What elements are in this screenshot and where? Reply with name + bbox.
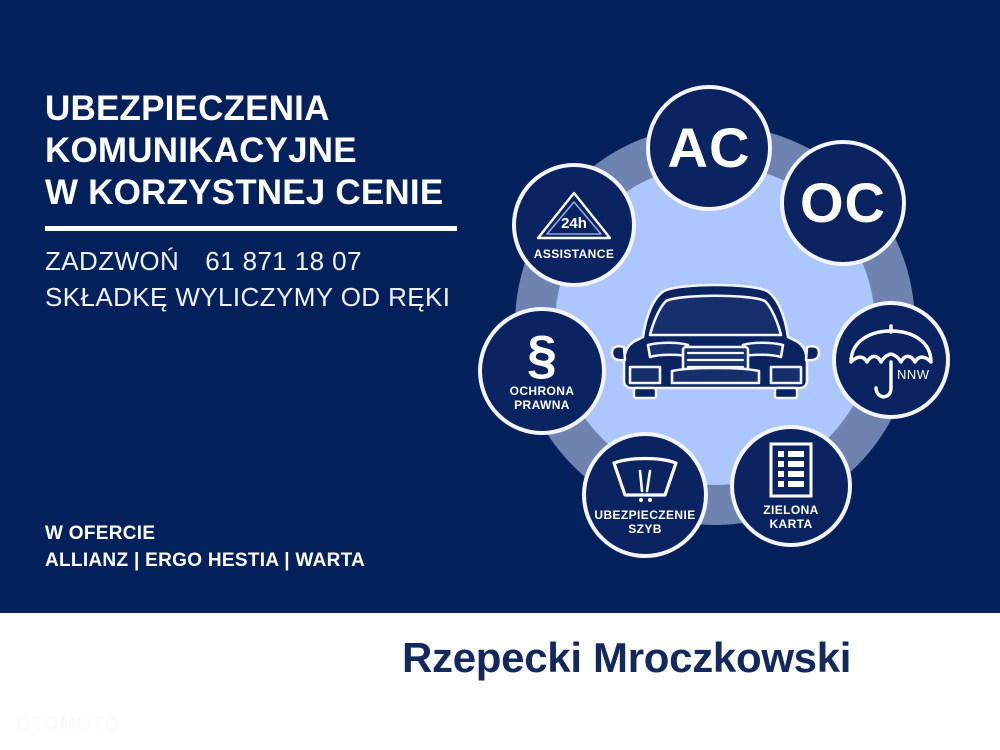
phone-number[interactable]: 61 871 18 07 — [205, 243, 362, 279]
offer-heading: W OFERCIE — [45, 520, 365, 547]
car-front-icon — [608, 275, 823, 405]
brand-name: Rzepecki Mroczkowski — [402, 634, 851, 682]
assistance-hours-text: 24h — [561, 215, 587, 232]
umbrella-icon — [843, 312, 939, 408]
call-to-action-line: ZADZWOŃ61 871 18 07 — [45, 243, 475, 279]
badge-zielona-karta[interactable]: ZIELONA KARTA — [730, 425, 852, 547]
badge-szyby-label: UBEZPIECZENIE SZYB — [594, 508, 695, 536]
badge-ochrona-prawna[interactable]: § OCHRONA PRAWNA — [478, 307, 606, 435]
insurance-coverage-diagram: AC OC NNW — [480, 85, 950, 565]
headline-divider — [45, 226, 457, 231]
advertisement-banner: UBEZPIECZENIA KOMUNIKACYJNE W KORZYSTNEJ… — [0, 0, 1000, 750]
headline-line-1: UBEZPIECZENIA — [45, 88, 475, 130]
badge-szyby-label-2: SZYB — [594, 522, 695, 536]
badge-ochrona-prawna-label-2: PRAWNA — [510, 398, 575, 412]
windshield-wiper-icon — [610, 455, 680, 503]
badge-szyby[interactable]: UBEZPIECZENIE SZYB — [582, 432, 708, 558]
badge-assistance[interactable]: 24h ASSISTANCE — [512, 163, 636, 287]
call-label: ZADZWOŃ — [45, 246, 179, 276]
badge-assistance-label: ASSISTANCE — [534, 247, 614, 261]
badge-zielona-karta-label-1: ZIELONA — [763, 503, 818, 517]
headline-block: UBEZPIECZENIA KOMUNIKACYJNE W KORZYSTNEJ… — [45, 88, 475, 315]
offer-insurers: ALLIANZ | ERGO HESTIA | WARTA — [45, 547, 365, 574]
badge-ac[interactable]: AC — [646, 85, 772, 211]
offer-block: W OFERCIE ALLIANZ | ERGO HESTIA | WARTA — [45, 520, 365, 574]
watermark: OTOMOTO — [16, 714, 120, 736]
badge-ac-label: AC — [668, 120, 751, 176]
badge-oc[interactable]: OC — [780, 140, 906, 266]
headline-line-3: W KORZYSTNEJ CENIE — [45, 172, 475, 214]
badge-ochrona-prawna-label: OCHRONA PRAWNA — [510, 384, 575, 412]
document-list-icon — [769, 442, 813, 498]
tagline: SKŁADKĘ WYLICZYMY OD RĘKI — [45, 279, 475, 315]
badge-nnw[interactable]: NNW — [832, 301, 950, 419]
badge-oc-label: OC — [800, 175, 886, 231]
badge-nnw-label: NNW — [897, 367, 930, 382]
badge-zielona-karta-label-2: KARTA — [763, 517, 818, 531]
badge-ochrona-prawna-label-1: OCHRONA — [510, 384, 575, 398]
headline-line-2: KOMUNIKACYJNE — [45, 130, 475, 172]
warning-triangle-24h-icon: 24h — [535, 190, 613, 242]
badge-szyby-label-1: UBEZPIECZENIE — [594, 508, 695, 522]
umbrella-icon-wrap: NNW — [843, 312, 939, 408]
badge-zielona-karta-label: ZIELONA KARTA — [763, 503, 818, 531]
section-sign-icon: § — [527, 331, 557, 379]
